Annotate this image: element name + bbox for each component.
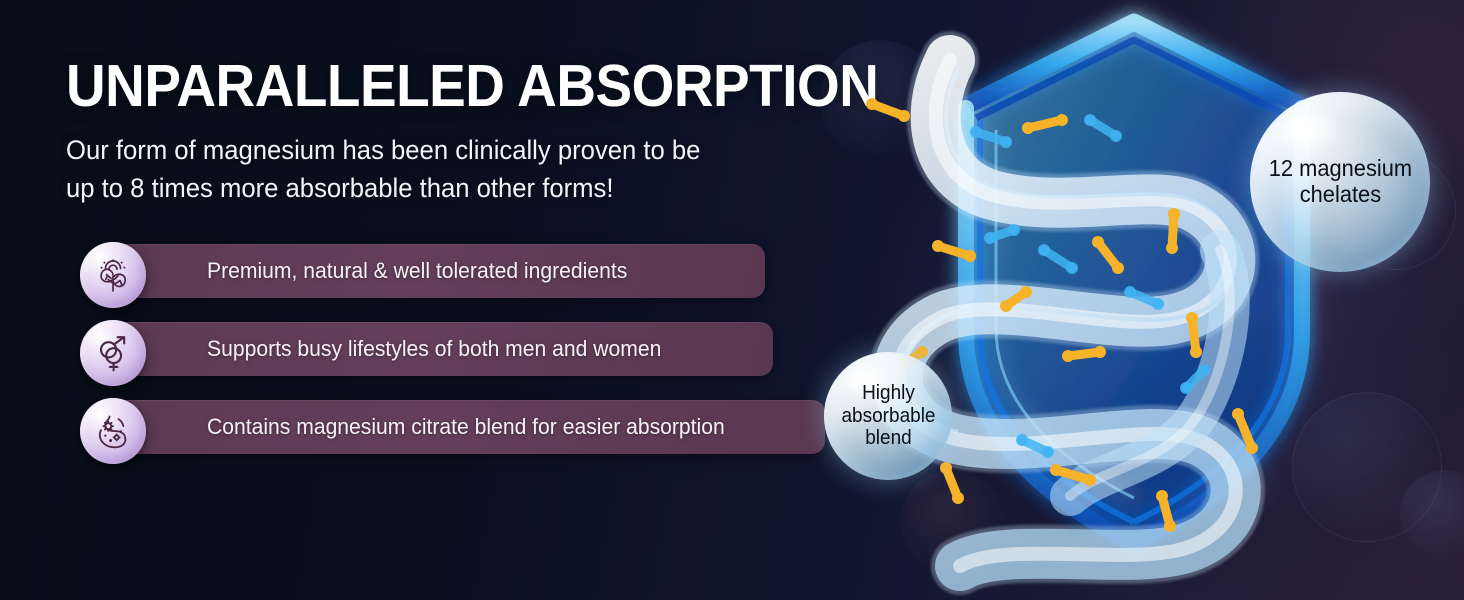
subheadline-line-1: Our form of magnesium has been clinicall…: [66, 131, 750, 169]
feature-pill: Supports busy lifestyles of both men and…: [115, 322, 773, 376]
callout-bubble-blend: Highlyabsorbableblend: [824, 352, 952, 480]
subheadline: Our form of magnesium has been clinicall…: [66, 131, 750, 207]
product-banner: UNPARALLELED ABSORPTION Our form of magn…: [0, 0, 1464, 600]
gender-symbols-icon: [80, 320, 146, 386]
callout-bubble-chelates: 12 magnesiumchelates: [1250, 92, 1430, 272]
feature-label: Contains magnesium citrate blend for eas…: [207, 414, 725, 440]
subheadline-line-2: up to 8 times more absorbable than other…: [66, 169, 750, 207]
stomach-microbiome-icon: [80, 398, 146, 464]
feature-label: Premium, natural & well tolerated ingred…: [207, 258, 627, 284]
callout-text: Highlyabsorbableblend: [841, 382, 935, 449]
leaf-sunrise-icon: [80, 242, 146, 308]
feature-label: Supports busy lifestyles of both men and…: [207, 336, 661, 362]
page-title: UNPARALLELED ABSORPTION: [66, 57, 878, 116]
product-illustration: 12 magnesiumchelates Highlyabsorbableble…: [800, 0, 1464, 600]
callout-text: 12 magnesiumchelates: [1268, 156, 1411, 208]
feature-pill: Premium, natural & well tolerated ingred…: [115, 244, 765, 298]
feature-pill: Contains magnesium citrate blend for eas…: [115, 400, 825, 454]
